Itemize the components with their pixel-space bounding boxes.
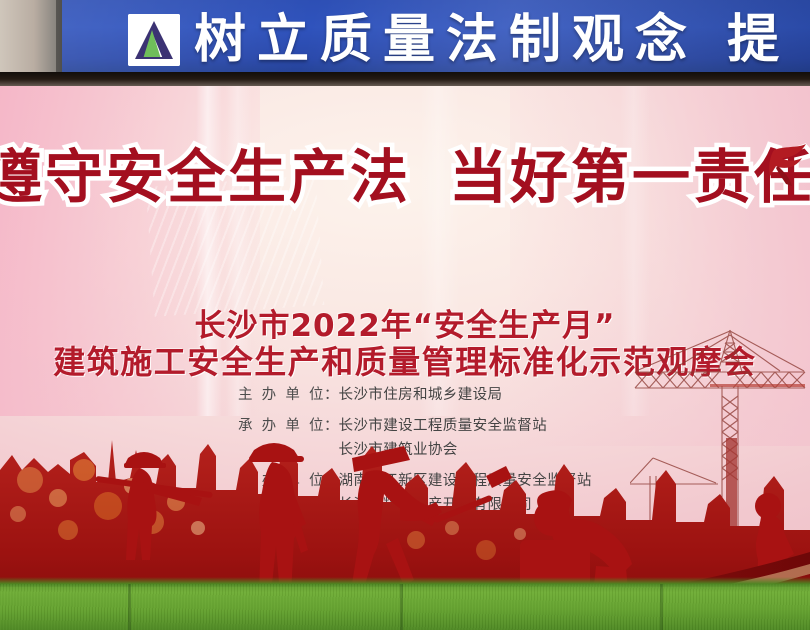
- top-blue-sign: 树立质量法制观念 提: [0, 0, 810, 78]
- headline-part2: 当好第一责任人: [449, 143, 810, 211]
- organizer-value: 长沙市住房和城乡建设局: [339, 383, 639, 404]
- headline-fill-layer: 遵守安全生产法当好第一责任人: [0, 138, 804, 216]
- organizer-values: 长沙市住房和城乡建设局: [339, 383, 639, 407]
- headline-part1: 遵守安全生产法: [0, 143, 411, 211]
- banner-headline: 遵守安全生产法当好第一责任人 遵守安全生产法当好第一责任人: [0, 138, 804, 216]
- grass-seam: [400, 584, 403, 630]
- construction-quality-logo: [128, 14, 180, 66]
- organizer-colon: ：: [324, 383, 339, 404]
- photo-of-construction-safety-banner: 树立质量法制观念 提 遵守安全生产法当好第一责任人 遵守安全生产法当好第一责任人…: [0, 0, 810, 630]
- top-sign-slogan: 树立质量法制观念 提: [194, 4, 790, 76]
- main-event-banner: 遵守安全生产法当好第一责任人 遵守安全生产法当好第一责任人 长沙市2022年“安…: [0, 86, 810, 630]
- grass-seam: [128, 584, 131, 630]
- organizer-label: 主办单位: [238, 383, 324, 404]
- sign-left-edge: [0, 0, 62, 78]
- organizer-row: 主办单位 ： 长沙市住房和城乡建设局: [238, 383, 638, 407]
- red-swallow-ornament: [768, 142, 808, 188]
- grass-seam: [660, 584, 663, 630]
- grass-edge: [0, 577, 810, 587]
- artificial-grass-ground: [0, 584, 810, 630]
